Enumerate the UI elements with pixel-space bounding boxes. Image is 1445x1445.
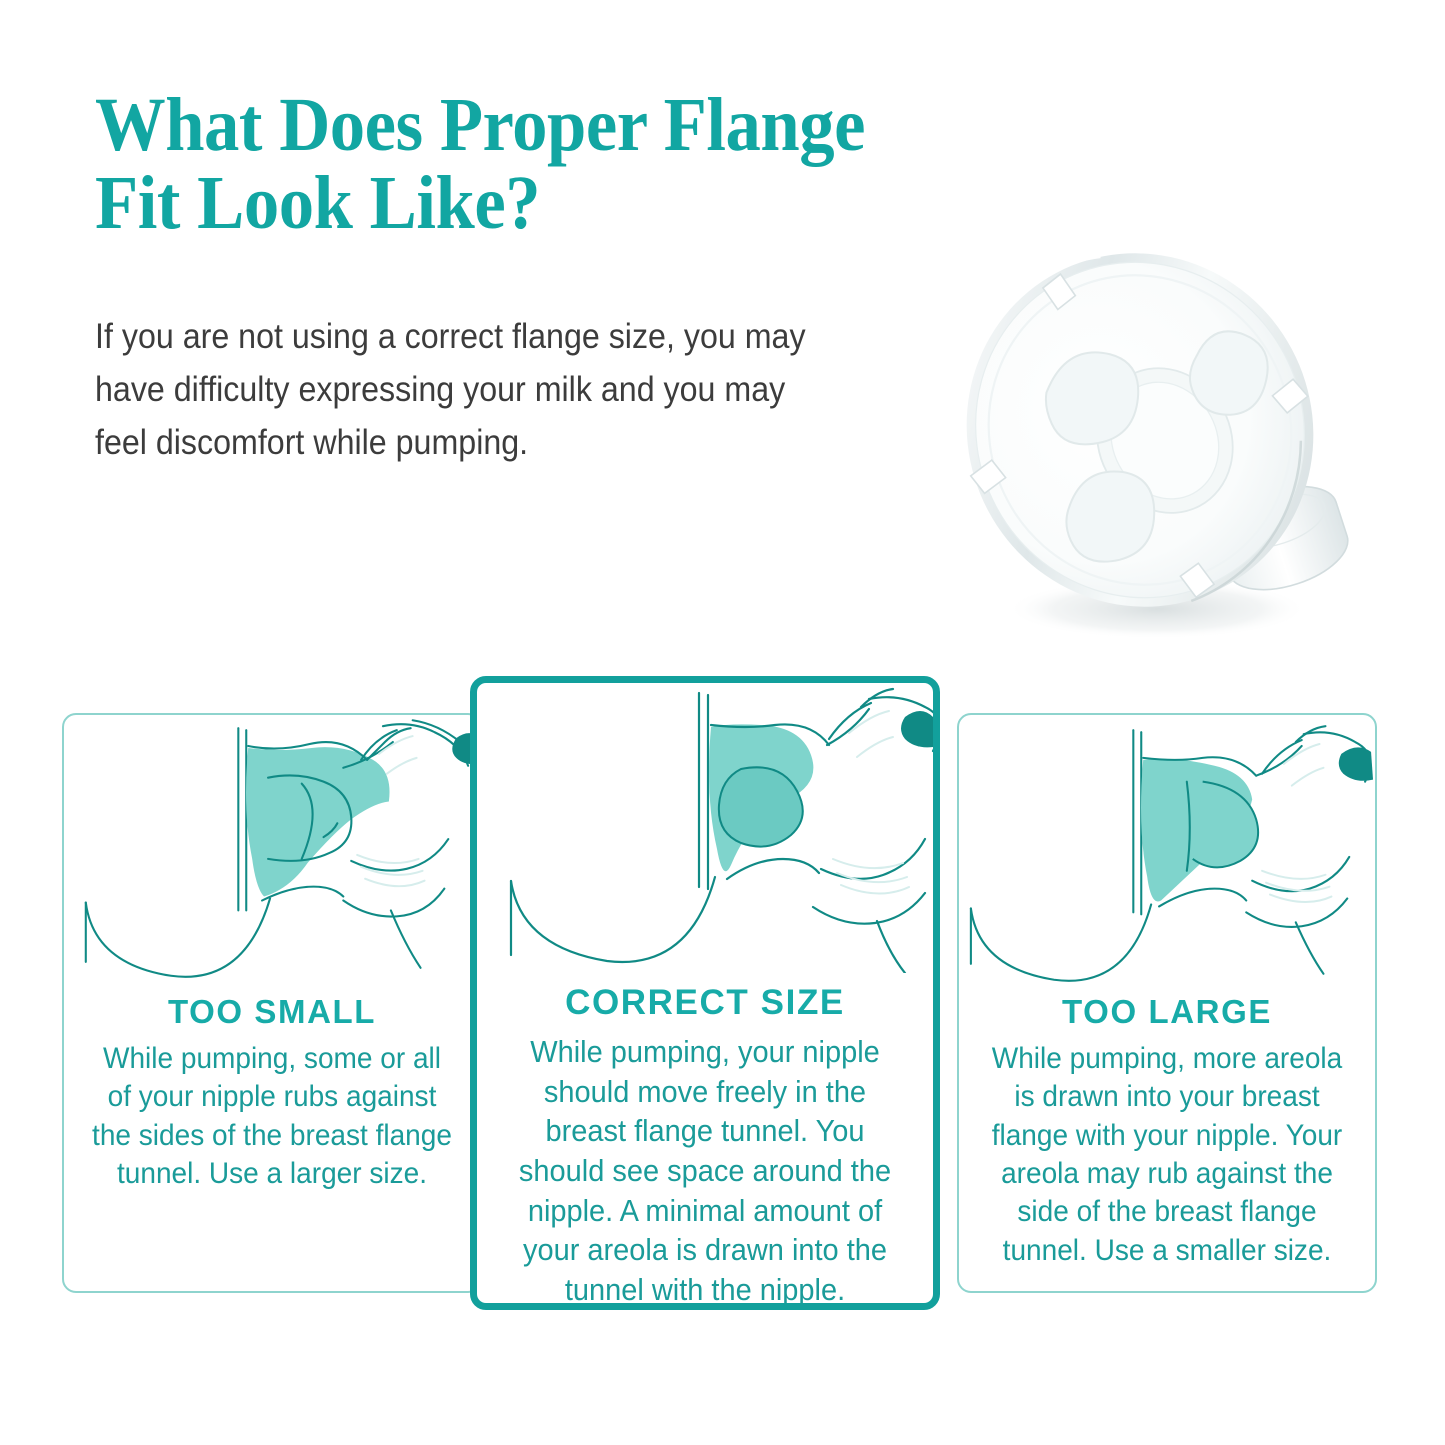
card-body-text: While pumping, your nipple should move f…: [502, 1033, 909, 1310]
card-heading-too-large: TOO LARGE: [959, 993, 1375, 1031]
illustration-too-large: [959, 715, 1375, 983]
card-body-too-small: While pumping, some or all of your nippl…: [78, 1040, 466, 1193]
illustration-too-small: [64, 715, 480, 983]
card-too-large[interactable]: TOO LARGE While pumping, more areola is …: [957, 713, 1377, 1293]
card-correct-size[interactable]: CORRECT SIZE While pumping, your nipple …: [470, 676, 940, 1310]
card-body-text: While pumping, more areola is drawn into…: [983, 1040, 1352, 1270]
card-heading-too-small: TOO SMALL: [64, 993, 480, 1031]
card-body-text: While pumping, some or all of your nippl…: [88, 1040, 457, 1193]
infographic-root: What Does Proper Flange Fit Look Like? I…: [0, 0, 1445, 1445]
flange-fit-cards: TOO SMALL While pumping, some or all of …: [0, 0, 1445, 1445]
illustration-correct-size: [477, 683, 933, 973]
card-heading-correct-size: CORRECT SIZE: [477, 983, 933, 1023]
card-body-too-large: While pumping, more areola is drawn into…: [973, 1040, 1361, 1270]
card-too-small[interactable]: TOO SMALL While pumping, some or all of …: [62, 713, 482, 1293]
card-body-correct-size: While pumping, your nipple should move f…: [491, 1033, 919, 1310]
